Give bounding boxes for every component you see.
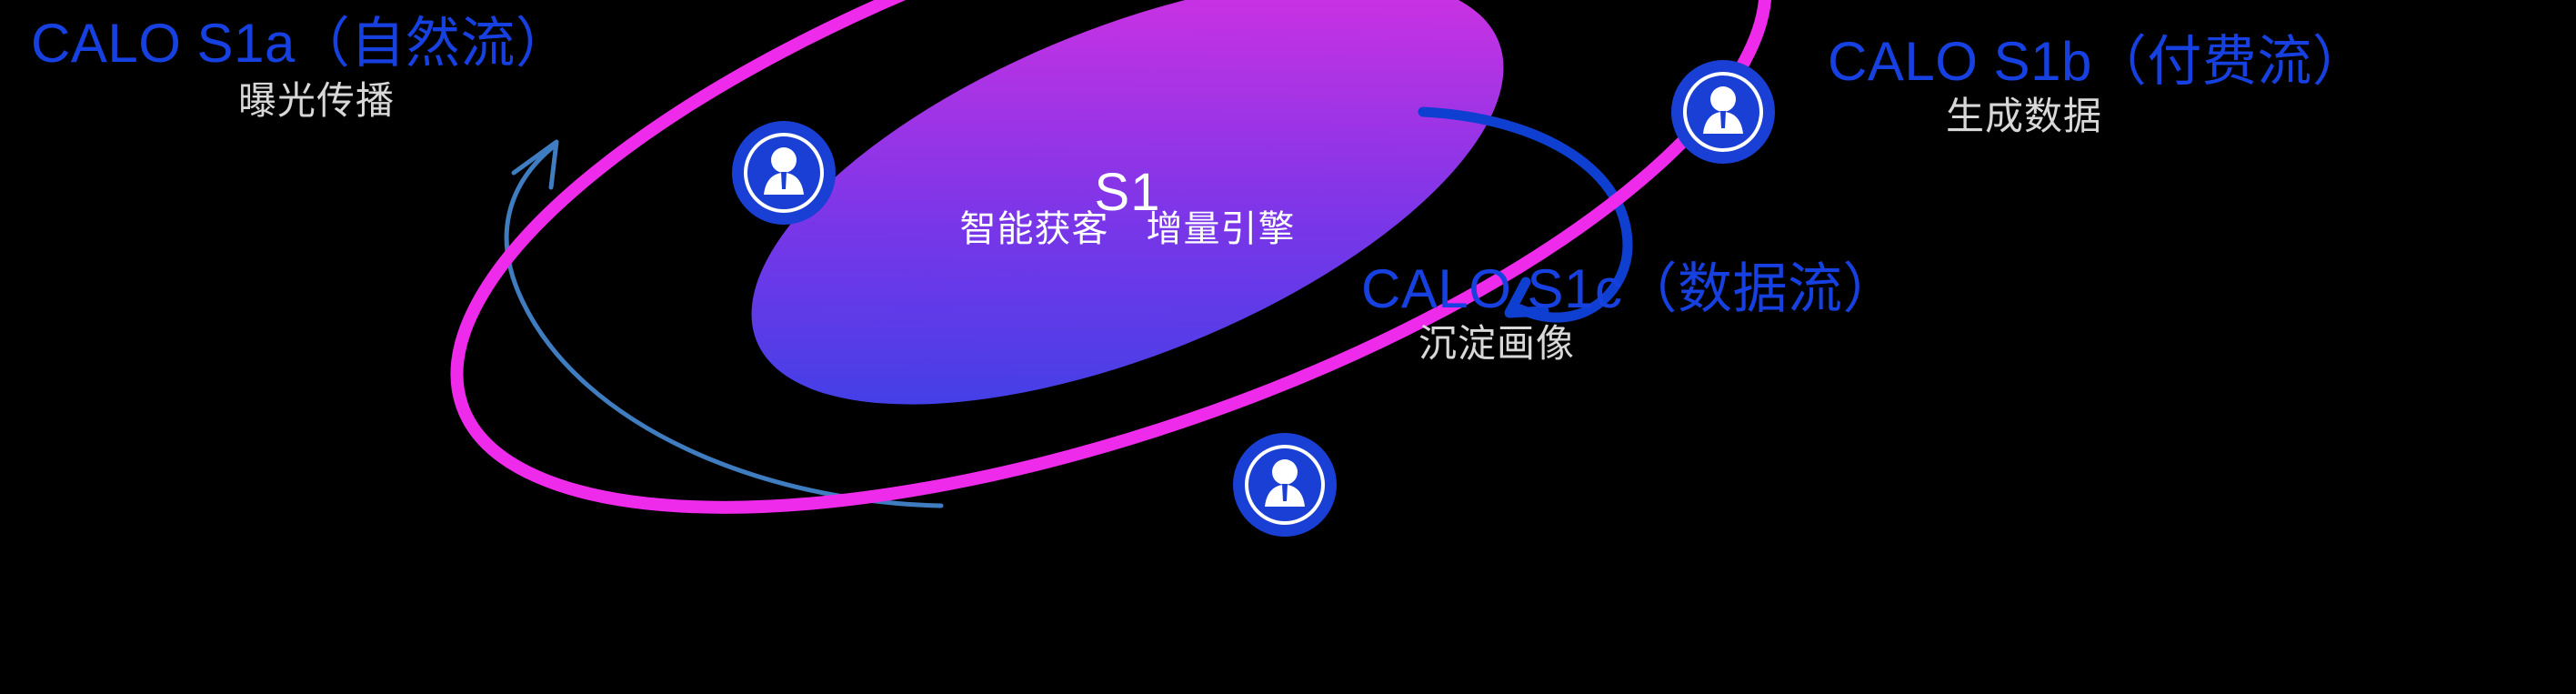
label-s1c-title: CALO S1c（数据流） [1361,262,1898,317]
label-s1a-sublabel: 曝光传播 [238,82,395,120]
label-s1c-sublabel: 沉淀画像 [1418,325,1575,363]
node-s1c[interactable] [1233,433,1337,537]
diagram-canvas: S1 智能获客 增量引擎 CALO S1a（自然流） 曝光传播 CALO S1b… [0,0,2576,694]
core-title: S1 [723,166,1532,219]
node-s1b[interactable] [1671,60,1775,164]
label-s1a-title: CALO S1a（自然流） [31,16,570,71]
label-s1b-title: CALO S1b（付费流） [1828,35,2367,89]
core-subtitle: 智能获客 增量引擎 [723,211,1532,247]
label-s1b-sublabel: 生成数据 [1946,97,2102,136]
